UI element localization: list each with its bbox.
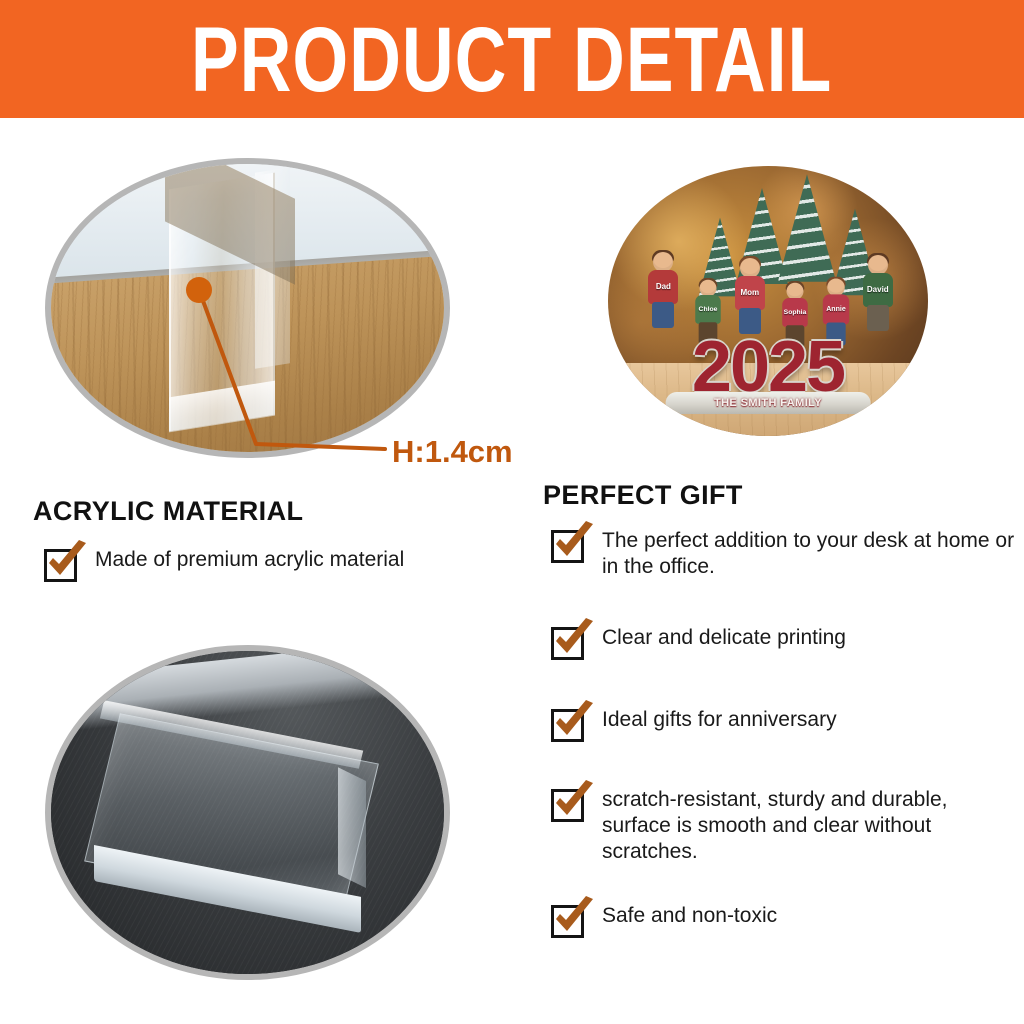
page-header-banner: PRODUCT DETAIL: [0, 0, 1024, 118]
feature-item: Clear and delicate printing: [551, 625, 846, 660]
figure-head: [868, 255, 888, 275]
section-heading-perfect-gift: PERFECT GIFT: [543, 480, 743, 511]
feature-item: Safe and non-toxic: [551, 903, 777, 938]
figure-name-label: David: [867, 285, 889, 294]
feature-text: Made of premium acrylic material: [95, 547, 404, 573]
feature-item: Made of premium acrylic material: [44, 547, 404, 582]
checkmark-icon: [44, 549, 77, 582]
ornament-family-name-label: THE SMITH FAMILY: [714, 397, 822, 409]
figure-head: [786, 282, 803, 299]
christmas-tree-icon: [778, 174, 836, 282]
checkmark-icon: [551, 709, 584, 742]
height-callout-dot: [186, 277, 212, 303]
figure-name-label: Chloe: [699, 305, 718, 313]
product-detail-page: PRODUCT DETAIL H:1.4cm Dad: [0, 0, 1024, 1024]
figure-name-label: Dad: [656, 282, 671, 291]
checkmark-icon: [551, 530, 584, 563]
flat-acrylic-block-side: [338, 767, 366, 887]
feature-text: The perfect addition to your desk at hom…: [602, 528, 1022, 580]
acrylic-block-edge-photo: [45, 158, 450, 458]
figure-head: [740, 258, 760, 278]
figure-name-label: Mom: [740, 288, 759, 297]
figure-head: [653, 252, 673, 272]
ornament-figure: Dad: [646, 252, 680, 328]
figure-name-label: Annie: [826, 305, 846, 313]
checkmark-icon: [551, 627, 584, 660]
feature-text: Ideal gifts for anniversary: [602, 707, 837, 733]
checkmark-icon: [551, 905, 584, 938]
ornament-figure: David: [861, 255, 895, 331]
christmas-family-ornament-photo: Dad Chloe Mom Sophia Ann: [608, 166, 928, 436]
feature-text: scratch-resistant, sturdy and durable, s…: [602, 787, 1022, 865]
ornament-base-plate: THE SMITH FAMILY: [666, 392, 871, 414]
feature-item: scratch-resistant, sturdy and durable, s…: [551, 787, 1022, 865]
figure-name-label: Sophia: [783, 308, 806, 316]
figure-legs: [867, 305, 889, 331]
feature-text: Safe and non-toxic: [602, 903, 777, 929]
feature-text: Clear and delicate printing: [602, 625, 846, 651]
figure-legs: [652, 302, 674, 328]
feature-item: Ideal gifts for anniversary: [551, 707, 837, 742]
feature-item: The perfect addition to your desk at hom…: [551, 528, 1022, 580]
section-heading-acrylic-material: ACRYLIC MATERIAL: [33, 496, 303, 527]
ornament-year-label: 2025: [692, 337, 844, 398]
page-title: PRODUCT DETAIL: [191, 13, 832, 105]
checkmark-icon: [551, 789, 584, 822]
ornament-figure: Mom: [733, 258, 767, 334]
acrylic-block-flat-photo: [45, 645, 450, 980]
height-callout-label: H:1.4cm: [392, 434, 513, 470]
